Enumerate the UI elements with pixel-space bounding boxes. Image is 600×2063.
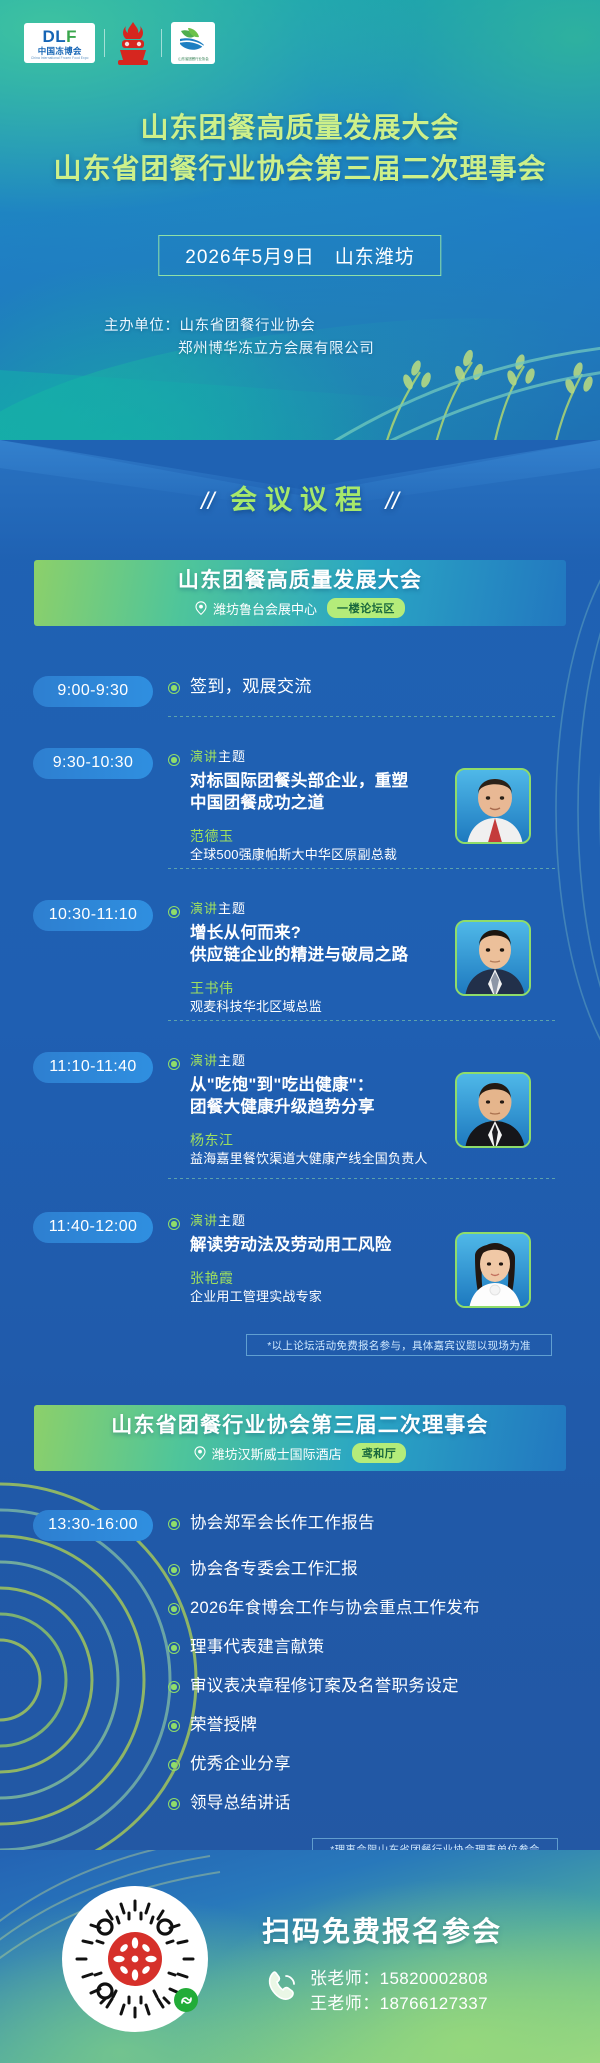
speaker-portrait xyxy=(455,1072,531,1148)
bullet-icon xyxy=(168,1759,180,1771)
list-item: 荣誉授牌 xyxy=(0,1714,600,1748)
bullet-icon xyxy=(168,1642,180,1654)
council-item-1: 协会郑军会长作工作报告 xyxy=(190,1512,375,1535)
contact-list: 张老师：15820002808 王老师：18766127337 xyxy=(310,1966,488,2016)
row-separator-3 xyxy=(168,1020,558,1021)
agenda-row-4-time: 11:10-11:40 xyxy=(33,1052,153,1083)
list-item: 优秀企业分享 xyxy=(0,1753,600,1787)
bullet-icon xyxy=(168,1603,180,1615)
wheat-shield-icon xyxy=(176,25,210,55)
agenda-row-4-tag: 演讲主题 xyxy=(190,1052,520,1069)
council-item-7: 优秀企业分享 xyxy=(190,1753,291,1776)
phone-icon xyxy=(264,1968,302,2006)
male-portrait-2-image xyxy=(457,922,531,996)
tag-white: 主题 xyxy=(218,901,246,916)
bullet-icon xyxy=(168,1058,180,1070)
council-item-3: 2026年食博会工作与协会重点工作发布 xyxy=(190,1597,480,1620)
poster-root: DLF 中国冻博会 China International Frozen Foo… xyxy=(0,0,600,2063)
tag-green: 演讲 xyxy=(190,749,218,764)
wechat-mini-program-qr[interactable] xyxy=(62,1886,208,2032)
dlf-logo-en: China International Frozen Food Expo xyxy=(31,57,88,60)
agenda-row-2-time: 9:30-10:30 xyxy=(33,748,153,779)
section1-footnote: *以上论坛活动免费报名参与，具体嘉宾议题以现场为准 xyxy=(246,1334,552,1356)
agenda-banner-text: 会议议程 xyxy=(230,485,370,515)
council-item-4: 理事代表建言献策 xyxy=(190,1636,324,1659)
bullet-icon xyxy=(168,1720,180,1732)
shandong-association-logo: 山东省团餐行业协会 xyxy=(171,22,215,64)
section1-venue-row: 潍坊鲁台会展中心 一楼论坛区 xyxy=(195,598,405,618)
organizer-label: 主办单位： xyxy=(104,318,180,334)
list-item: 审议表决章程修订案及名誉职务设定 xyxy=(0,1675,600,1709)
slash-left: // xyxy=(201,488,214,515)
section2-hall-chip: 鸢和厅 xyxy=(352,1443,407,1463)
agenda-row-1-time: 9:00-9:30 xyxy=(33,676,153,707)
section-header-conference: 山东团餐高质量发展大会 潍坊鲁台会展中心 一楼论坛区 xyxy=(34,560,566,626)
bullet-icon xyxy=(168,1681,180,1693)
agenda-row-1-label: 签到，观展交流 xyxy=(190,676,520,698)
tag-green: 演讲 xyxy=(190,1213,218,1228)
contact-2: 王老师：18766127337 xyxy=(310,1991,488,2016)
bullet-icon xyxy=(168,682,180,694)
location-pin-icon xyxy=(195,601,207,615)
wechat-mini-program-badge xyxy=(174,1988,198,2012)
council-item-8: 领导总结讲话 xyxy=(190,1792,291,1815)
list-item: 领导总结讲话 xyxy=(0,1792,600,1826)
list-item: 协会各专委会工作汇报 xyxy=(0,1558,600,1592)
date-venue-box: 2026年5月9日 山东潍坊 xyxy=(158,235,441,276)
row-separator-2 xyxy=(168,868,558,869)
female-portrait-1-image xyxy=(457,1234,531,1308)
footer-registration: 扫码免费报名参会 张老师：15820002808 王老师：18766127337 xyxy=(0,1850,600,2063)
council-item-6: 荣誉授牌 xyxy=(190,1714,257,1737)
agenda-row-3-tag: 演讲主题 xyxy=(190,900,520,917)
tag-green: 演讲 xyxy=(190,901,218,916)
list-item: 理事代表建言献策 xyxy=(0,1636,600,1670)
section-header-council: 山东省团餐行业协会第三届二次理事会 潍坊汉斯威士国际酒店 鸢和厅 xyxy=(34,1405,566,1471)
agenda-row-5-time: 11:40-12:00 xyxy=(33,1212,153,1243)
list-item: 协会郑军会长作工作报告 xyxy=(0,1512,600,1546)
section1-hall-chip: 一楼论坛区 xyxy=(327,598,405,618)
logo-divider-2 xyxy=(161,29,162,57)
dlf-logo-text: DLF xyxy=(42,28,77,45)
organizer-name-1: 山东省团餐行业协会 xyxy=(180,318,316,334)
location-pin-icon xyxy=(194,1446,206,1460)
council-item-5: 审议表决章程修订案及名誉职务设定 xyxy=(190,1675,459,1698)
section1-title: 山东团餐高质量发展大会 xyxy=(178,568,422,594)
row-separator-1 xyxy=(168,716,558,717)
agenda-banner-title: // 会议议程 // xyxy=(0,478,600,517)
tag-white: 主题 xyxy=(218,1213,246,1228)
agenda-row-1-body: 签到，观展交流 xyxy=(190,676,520,698)
slash-right: // xyxy=(386,488,399,515)
agenda-row-4-role: 益海嘉里餐饮渠道大健康产线全国负责人 xyxy=(190,1150,520,1168)
section2-venue-row: 潍坊汉斯威士国际酒店 鸢和厅 xyxy=(194,1443,407,1463)
dlf-logo: DLF 中国冻博会 China International Frozen Foo… xyxy=(24,23,95,63)
organizer-block: 主办单位：山东省团餐行业协会 郑州博华冻立方会展有限公司 xyxy=(104,315,374,361)
speaker-portrait xyxy=(455,1232,531,1308)
hero-title-line2: 山东省团餐行业协会第三届二次理事会 xyxy=(0,148,600,190)
logo-divider-1 xyxy=(104,29,105,57)
hero-header: DLF 中国冻博会 China International Frozen Foo… xyxy=(0,0,600,470)
shandong-logo-cn: 山东省团餐行业协会 xyxy=(178,56,209,61)
page-title: 山东团餐高质量发展大会 山东省团餐行业协会第三届二次理事会 xyxy=(0,108,600,190)
organizer-name-2: 郑州博华冻立方会展有限公司 xyxy=(104,338,374,361)
row-separator-4 xyxy=(168,1178,558,1179)
registration-cta: 扫码免费报名参会 xyxy=(262,1910,502,1950)
bullet-icon xyxy=(168,1218,180,1230)
section2-venue: 潍坊汉斯威士国际酒店 xyxy=(212,1444,342,1463)
bullet-icon xyxy=(168,1798,180,1810)
agenda-row-3-time: 10:30-11:10 xyxy=(33,900,153,931)
logo-group: DLF 中国冻博会 China International Frozen Foo… xyxy=(24,20,215,66)
council-item-2: 协会各专委会工作汇报 xyxy=(190,1558,358,1581)
speaker-portrait xyxy=(455,920,531,996)
male-portrait-1-image xyxy=(457,770,531,844)
agenda-row-2-tag: 演讲主题 xyxy=(190,748,520,765)
bullet-icon xyxy=(168,754,180,766)
dlf-logo-cn: 中国冻博会 xyxy=(38,47,82,56)
red-torch-logo-icon xyxy=(114,20,152,66)
section1-venue: 潍坊鲁台会展中心 xyxy=(213,599,317,618)
agenda-row-3-role: 观麦科技华北区域总监 xyxy=(190,998,520,1016)
speaker-portrait xyxy=(455,768,531,844)
bullet-icon xyxy=(168,1518,180,1530)
tag-white: 主题 xyxy=(218,749,246,764)
tag-green: 演讲 xyxy=(190,1053,218,1068)
contact-1: 张老师：15820002808 xyxy=(310,1966,488,1991)
bullet-icon xyxy=(168,906,180,918)
hero-title-line1: 山东团餐高质量发展大会 xyxy=(0,108,600,148)
section2-title: 山东省团餐行业协会第三届二次理事会 xyxy=(111,1413,488,1439)
bullet-icon xyxy=(168,1564,180,1576)
agenda-row-2-role: 全球500强康帕斯大中华区原副总裁 xyxy=(190,846,520,864)
agenda-row-5-tag: 演讲主题 xyxy=(190,1212,520,1229)
tag-white: 主题 xyxy=(218,1053,246,1068)
male-portrait-3-image xyxy=(457,1074,531,1148)
list-item: 2026年食博会工作与协会重点工作发布 xyxy=(0,1597,600,1631)
mini-program-icon xyxy=(179,1993,194,2008)
